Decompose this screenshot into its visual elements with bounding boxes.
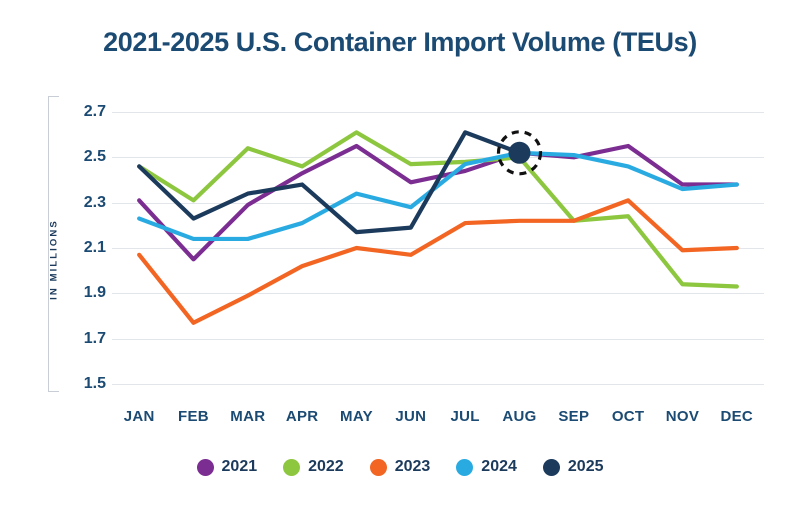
legend-swatch-icon [543,459,560,476]
x-axis-tick: JUN [384,408,438,438]
x-axis-tick: JUL [438,408,492,438]
legend: 20212022202320242025 [0,458,800,476]
y-axis-tick: 2.1 [62,239,106,257]
legend-item-2024[interactable]: 2024 [456,458,517,476]
legend-label: 2024 [481,458,517,476]
series-line-2022 [139,132,737,286]
legend-item-2021[interactable]: 2021 [197,458,258,476]
x-axis-tick: DEC [710,408,764,438]
y-axis-tick-labels: 2.72.52.32.11.91.71.5 [62,86,106,406]
x-axis-tick-labels: JANFEBMARAPRMAYJUNJULAUGSEPOCTNOVDEC [112,408,764,438]
series-line-2023 [139,200,737,322]
x-axis-tick: APR [275,408,329,438]
y-axis-tick: 1.9 [62,284,106,302]
chart-card: 2021-2025 U.S. Container Import Volume (… [0,0,800,520]
legend-label: 2021 [222,458,258,476]
plot-region: IN MILLIONS 2.72.52.32.11.91.71.5 JANFEB… [0,86,800,436]
legend-item-2022[interactable]: 2022 [283,458,344,476]
legend-label: 2023 [395,458,431,476]
legend-item-2025[interactable]: 2025 [543,458,604,476]
x-axis-tick: SEP [547,408,601,438]
legend-swatch-icon [456,459,473,476]
y-axis-tick: 2.3 [62,194,106,212]
y-axis-tick: 2.7 [62,103,106,121]
x-axis-tick: AUG [492,408,546,438]
highlight-data-point[interactable] [509,142,531,164]
x-axis-tick: MAY [329,408,383,438]
y-axis-tick: 2.5 [62,148,106,166]
legend-swatch-icon [370,459,387,476]
y-axis-unit-label: IN MILLIONS [49,200,60,320]
legend-item-2023[interactable]: 2023 [370,458,431,476]
x-axis-tick: FEB [166,408,220,438]
y-axis-tick: 1.7 [62,330,106,348]
legend-swatch-icon [197,459,214,476]
x-axis-tick: MAR [221,408,275,438]
legend-label: 2022 [308,458,344,476]
y-axis-tick: 1.5 [62,375,106,393]
chart-title: 2021-2025 U.S. Container Import Volume (… [0,28,800,58]
legend-label: 2025 [568,458,604,476]
x-axis-tick: JAN [112,408,166,438]
x-axis-tick: OCT [601,408,655,438]
series-lines [112,86,764,406]
x-axis-tick: NOV [655,408,709,438]
legend-swatch-icon [283,459,300,476]
